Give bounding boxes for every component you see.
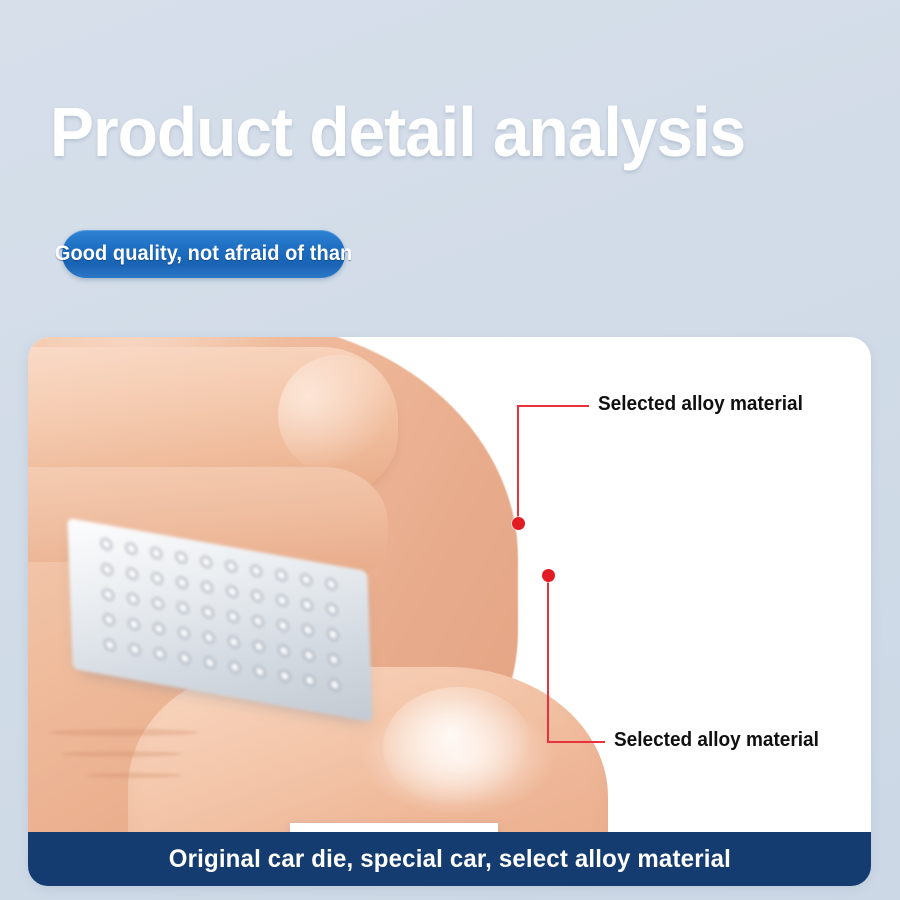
footer-banner-label: Original car die, special car, select al… [168,845,730,874]
quality-badge: Good quality, not afraid of than [62,230,345,278]
product-photo-card: Selected alloy material Selected alloy m… [28,337,871,886]
skin-crease [86,773,182,778]
annotation-label-top: Selected alloy material [598,393,803,416]
leader-line-horizontal-top [517,405,589,407]
annotation-label-bottom: Selected alloy material [614,729,819,752]
product-detail-page: Product detail analysis Good quality, no… [0,0,900,900]
skin-crease [62,751,182,757]
leader-line-horizontal-bottom [547,741,605,743]
skin-crease [48,729,198,736]
leader-line-vertical-top [517,405,519,525]
thumb-highlight [383,687,533,807]
footer-banner: Original car die, special car, select al… [28,832,871,886]
page-title: Product detail analysis [50,96,745,168]
product-photo: Selected alloy material Selected alloy m… [28,337,871,886]
callout-dot-bottom [542,569,555,582]
leader-line-vertical-bottom [547,575,549,743]
callout-dot-top [512,517,525,530]
quality-badge-label: Good quality, not afraid of than [55,242,352,266]
